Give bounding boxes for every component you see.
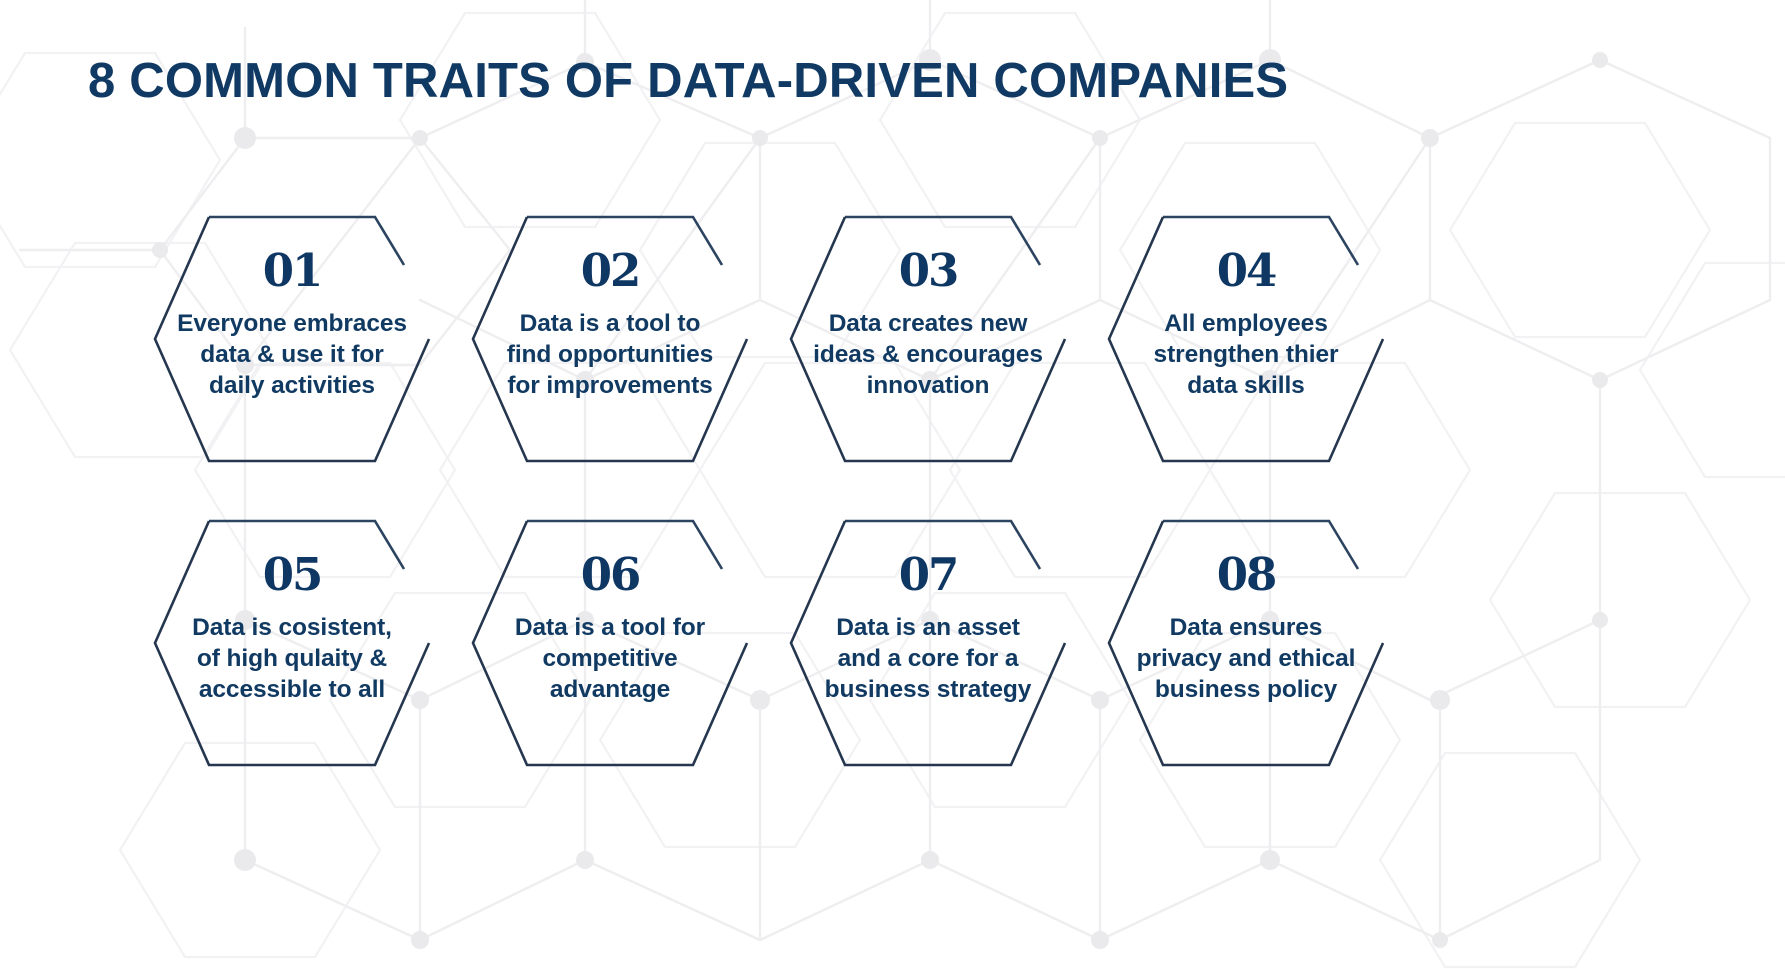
hexagon-number: 01: [107, 248, 477, 293]
hexagon-number: 04: [1061, 248, 1431, 293]
hexagon-description-line-1: All employees: [1061, 309, 1431, 340]
hexagon-number: 08: [1061, 552, 1431, 597]
hexagon-number: 05: [107, 552, 477, 597]
hexagon-card-04[interactable]: 04 All employees strengthen thier data s…: [1106, 214, 1386, 464]
hexagon-number: 02: [425, 248, 795, 293]
hexagon-description-line-1: Data ensures: [1061, 613, 1431, 644]
hexagon-description: All employees strengthen thier data skil…: [1061, 309, 1431, 402]
hexagon-description-line-1: Data is a tool for: [425, 613, 795, 644]
hexagon-content: 04 All employees strengthen thier data s…: [1061, 248, 1431, 402]
hexagon-card-06[interactable]: 06 Data is a tool for competitive advant…: [470, 518, 750, 768]
hexagon-content: 02 Data is a tool to find opportunities …: [425, 248, 795, 402]
hexagon-number: 07: [743, 552, 1113, 597]
hexagon-description-line-3: accessible to all: [107, 675, 477, 706]
hexagon-description-line-2: strengthen thier: [1061, 340, 1431, 371]
hexagon-description: Data is a tool to find opportunities for…: [425, 309, 795, 402]
hexagon-description-line-2: data & use it for: [107, 340, 477, 371]
hexagon-number: 03: [743, 248, 1113, 293]
hexagon-description: Data is cosistent, of high qulaity & acc…: [107, 613, 477, 706]
hexagon-description-line-2: privacy and ethical: [1061, 644, 1431, 675]
hexagon-card-05[interactable]: 05 Data is cosistent, of high qulaity & …: [152, 518, 432, 768]
hexagon-description-line-1: Data is an asset: [743, 613, 1113, 644]
hexagon-content: 08 Data ensures privacy and ethical busi…: [1061, 552, 1431, 706]
hexagon-grid: 01 Everyone embraces data & use it for d…: [0, 0, 1785, 969]
hexagon-content: 03 Data creates new ideas & encourages i…: [743, 248, 1113, 402]
hexagon-content: 07 Data is an asset and a core for a bus…: [743, 552, 1113, 706]
hexagon-description-line-3: innovation: [743, 371, 1113, 402]
hexagon-description-line-1: Data is cosistent,: [107, 613, 477, 644]
hexagon-description: Data creates new ideas & encourages inno…: [743, 309, 1113, 402]
hexagon-content: 01 Everyone embraces data & use it for d…: [107, 248, 477, 402]
hexagon-number: 06: [425, 552, 795, 597]
hexagon-card-07[interactable]: 07 Data is an asset and a core for a bus…: [788, 518, 1068, 768]
hexagon-content: 06 Data is a tool for competitive advant…: [425, 552, 795, 706]
hexagon-description-line-3: for improvements: [425, 371, 795, 402]
hexagon-content: 05 Data is cosistent, of high qulaity & …: [107, 552, 477, 706]
hexagon-description: Data is an asset and a core for a busine…: [743, 613, 1113, 706]
hexagon-description-line-2: competitive: [425, 644, 795, 675]
hexagon-description: Everyone embraces data & use it for dail…: [107, 309, 477, 402]
hexagon-description: Data ensures privacy and ethical busines…: [1061, 613, 1431, 706]
hexagon-description-line-1: Data is a tool to: [425, 309, 795, 340]
page-title: 8 COMMON TRAITS OF DATA-DRIVEN COMPANIES: [88, 57, 1708, 106]
hexagon-description-line-2: and a core for a: [743, 644, 1113, 675]
hexagon-description-line-2: find opportunities: [425, 340, 795, 371]
hexagon-description-line-3: data skills: [1061, 371, 1431, 402]
hexagon-card-03[interactable]: 03 Data creates new ideas & encourages i…: [788, 214, 1068, 464]
hexagon-description-line-1: Data creates new: [743, 309, 1113, 340]
hexagon-description-line-2: ideas & encourages: [743, 340, 1113, 371]
hexagon-description-line-3: business policy: [1061, 675, 1431, 706]
hexagon-card-08[interactable]: 08 Data ensures privacy and ethical busi…: [1106, 518, 1386, 768]
hexagon-description-line-3: advantage: [425, 675, 795, 706]
hexagon-card-01[interactable]: 01 Everyone embraces data & use it for d…: [152, 214, 432, 464]
hexagon-description-line-2: of high qulaity &: [107, 644, 477, 675]
hexagon-description-line-3: business strategy: [743, 675, 1113, 706]
hexagon-description-line-3: daily activities: [107, 371, 477, 402]
hexagon-card-02[interactable]: 02 Data is a tool to find opportunities …: [470, 214, 750, 464]
hexagon-description: Data is a tool for competitive advantage: [425, 613, 795, 706]
hexagon-description-line-1: Everyone embraces: [107, 309, 477, 340]
